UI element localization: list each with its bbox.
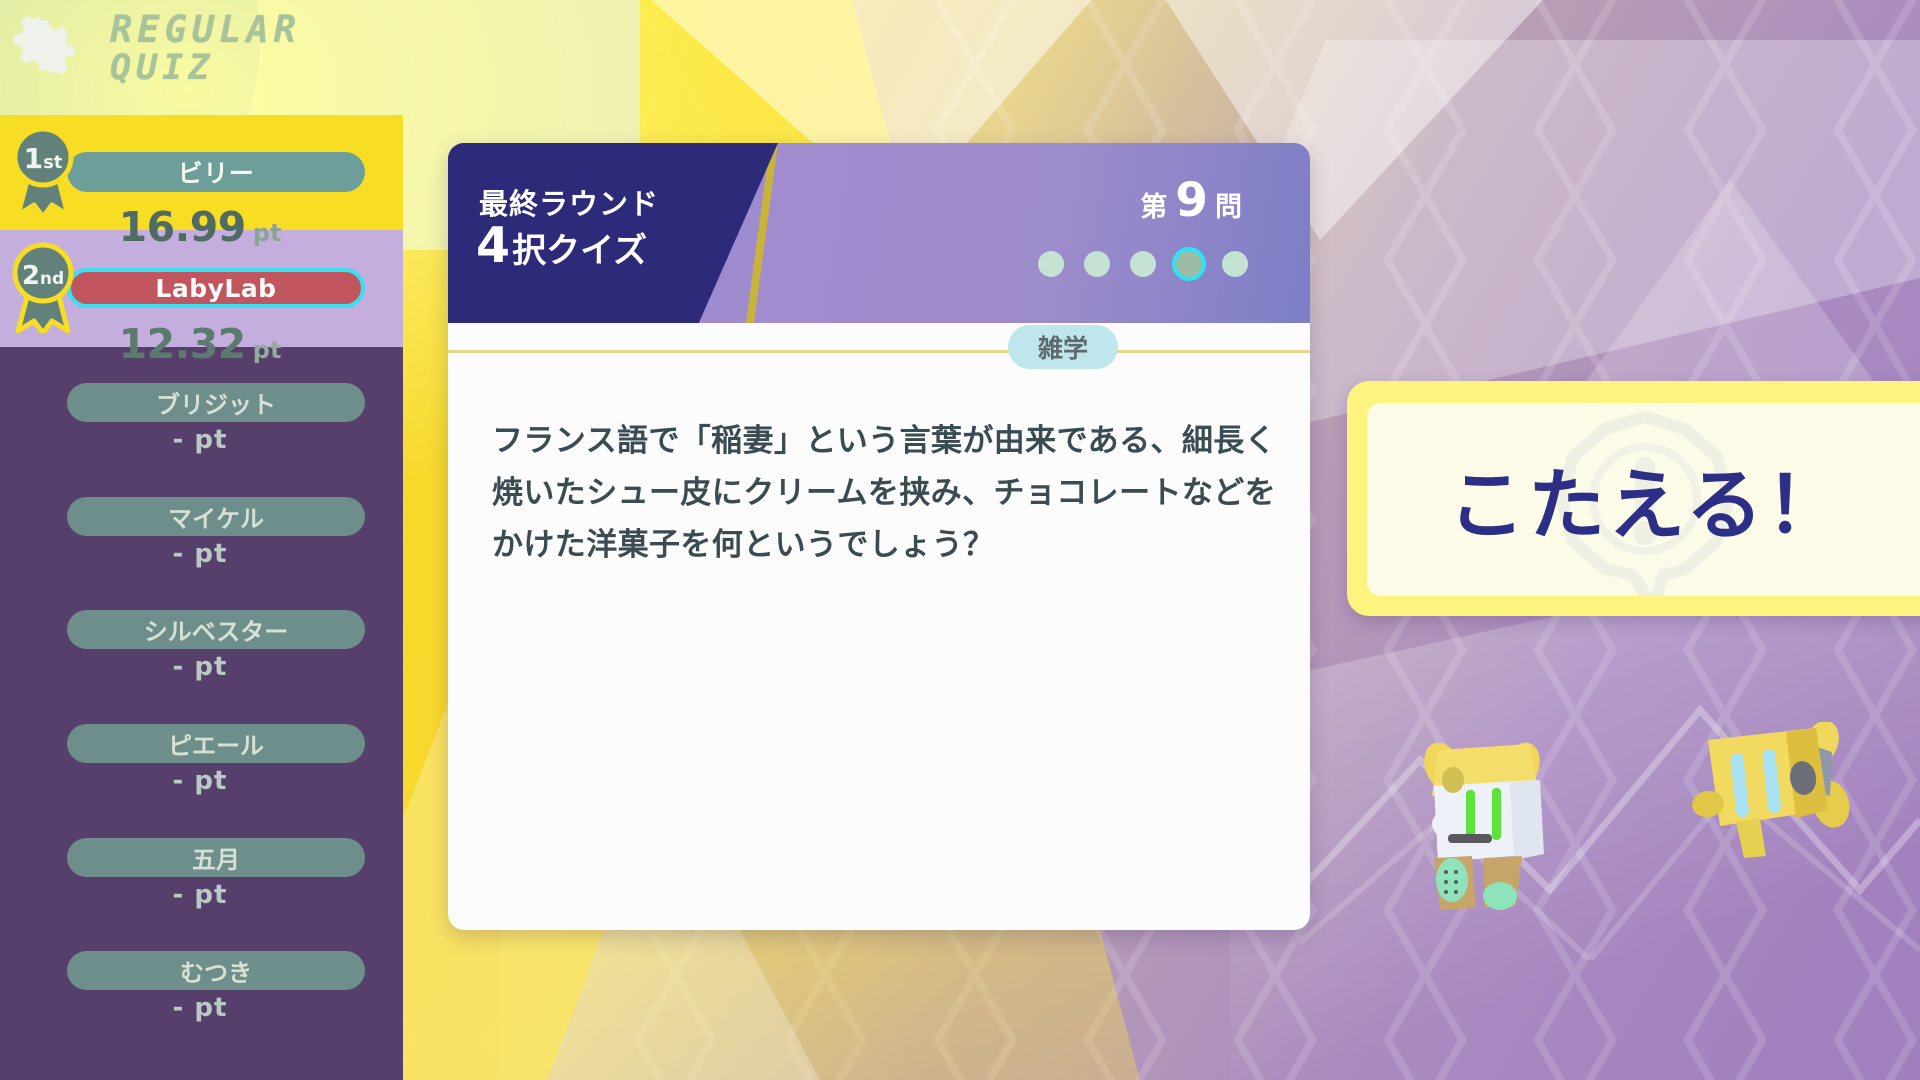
question-suffix: 問 <box>1215 185 1242 224</box>
progress-dot-1 <box>1038 251 1064 277</box>
player-name: ブリジット <box>156 385 276 420</box>
player-name-pill[interactable]: ブリジット <box>67 383 365 422</box>
player-name-1: ビリー <box>178 154 255 190</box>
question-progress-dots <box>1038 251 1248 277</box>
player-name-pill[interactable]: ピエール <box>67 724 365 763</box>
player-score-unit: pt <box>194 766 227 796</box>
player-name-pill[interactable]: マイケル <box>67 497 365 536</box>
leaderboard-sidebar: REGULAR QUIZ 1st ビリー 16.99pt 2nd LabyLab <box>0 0 403 1080</box>
player-name-pill[interactable]: シルベスター <box>67 610 365 649</box>
app-header: REGULAR QUIZ <box>0 0 403 110</box>
quiz-card-header: 最終ラウンド 4 択クイズ 第 9 問 <box>448 143 1310 323</box>
progress-dot-3 <box>1130 251 1156 277</box>
player-score: - pt <box>30 425 370 455</box>
answer-button-inner: こたえる！ <box>1367 403 1920 596</box>
progress-dot-4-active <box>1172 247 1206 281</box>
player-score-value-1: 16.99 <box>119 203 246 251</box>
progress-dot-5 <box>1222 251 1248 277</box>
player-score-unit: pt <box>194 880 227 910</box>
category-label: 雑学 <box>1038 329 1088 365</box>
player-score: - pt <box>30 880 370 910</box>
quiz-card: 最終ラウンド 4 択クイズ 第 9 問 雑学 フランス語で「稲妻」という言葉が由… <box>448 143 1310 930</box>
player-name: マイケル <box>168 499 264 534</box>
medal-2nd-icon: 2nd <box>8 241 78 333</box>
player-score-1: 16.99pt <box>30 203 370 251</box>
question-number: 9 <box>1175 179 1207 223</box>
player-score-unit: pt <box>194 539 227 569</box>
player-name-pill[interactable]: 五月 <box>67 838 365 877</box>
player-score: - pt <box>30 993 370 1023</box>
player-name-pill-2-self[interactable]: LabyLab <box>67 268 365 308</box>
player-score-value-2: 12.32 <box>119 320 246 368</box>
progress-dot-2 <box>1084 251 1110 277</box>
player-score-unit: pt <box>194 652 227 682</box>
player-name-pill-1[interactable]: ビリー <box>67 152 365 192</box>
player-name-pill[interactable]: むつき <box>67 951 365 990</box>
logo-line-2: QUIZ <box>110 50 301 86</box>
question-text: フランス語で「稲妻」という言葉が由来である、細長く焼いたシュー皮にクリームを挟み… <box>492 415 1282 571</box>
medal-1st-icon: 1st <box>8 125 78 217</box>
round-type-suffix: 択クイズ <box>512 223 647 272</box>
player-name-2: LabyLab <box>155 274 276 303</box>
answer-button[interactable]: こたえる！ <box>1347 381 1920 616</box>
round-type: 4 択クイズ <box>476 221 647 272</box>
round-type-number: 4 <box>476 221 510 270</box>
mascot-character-left <box>1418 730 1548 910</box>
gear-icon[interactable] <box>13 14 75 76</box>
player-name: 五月 <box>192 840 240 875</box>
player-score-value: - <box>173 425 185 455</box>
player-name: ピエール <box>168 726 264 761</box>
logo-line-1: REGULAR <box>110 8 301 51</box>
category-divider-line <box>448 350 1310 353</box>
player-name: むつき <box>180 953 252 988</box>
player-score: - pt <box>30 539 370 569</box>
player-name: シルベスター <box>144 612 288 647</box>
player-score-2: 12.32pt <box>30 320 370 368</box>
player-score-unit: pt <box>194 993 227 1023</box>
player-score: - pt <box>30 652 370 682</box>
player-score-value: - <box>173 993 185 1023</box>
player-score-unit: pt <box>194 425 227 455</box>
category-badge: 雑学 <box>1008 325 1118 369</box>
player-score-value: - <box>173 539 185 569</box>
player-score: - pt <box>30 766 370 796</box>
player-score-value: - <box>173 766 185 796</box>
player-score-value: - <box>173 880 185 910</box>
player-score-unit-1: pt <box>253 219 282 247</box>
player-score-unit-2: pt <box>253 336 282 364</box>
player-score-value: - <box>173 652 185 682</box>
mascot-character-right <box>1690 722 1850 872</box>
app-logo: REGULAR QUIZ <box>110 12 301 86</box>
question-number-label: 第 9 問 <box>1140 179 1242 224</box>
answer-button-label: こたえる！ <box>1367 403 1920 596</box>
question-prefix: 第 <box>1140 185 1167 224</box>
quiz-screen: REGULAR QUIZ 1st ビリー 16.99pt 2nd LabyLab <box>0 0 1920 1080</box>
